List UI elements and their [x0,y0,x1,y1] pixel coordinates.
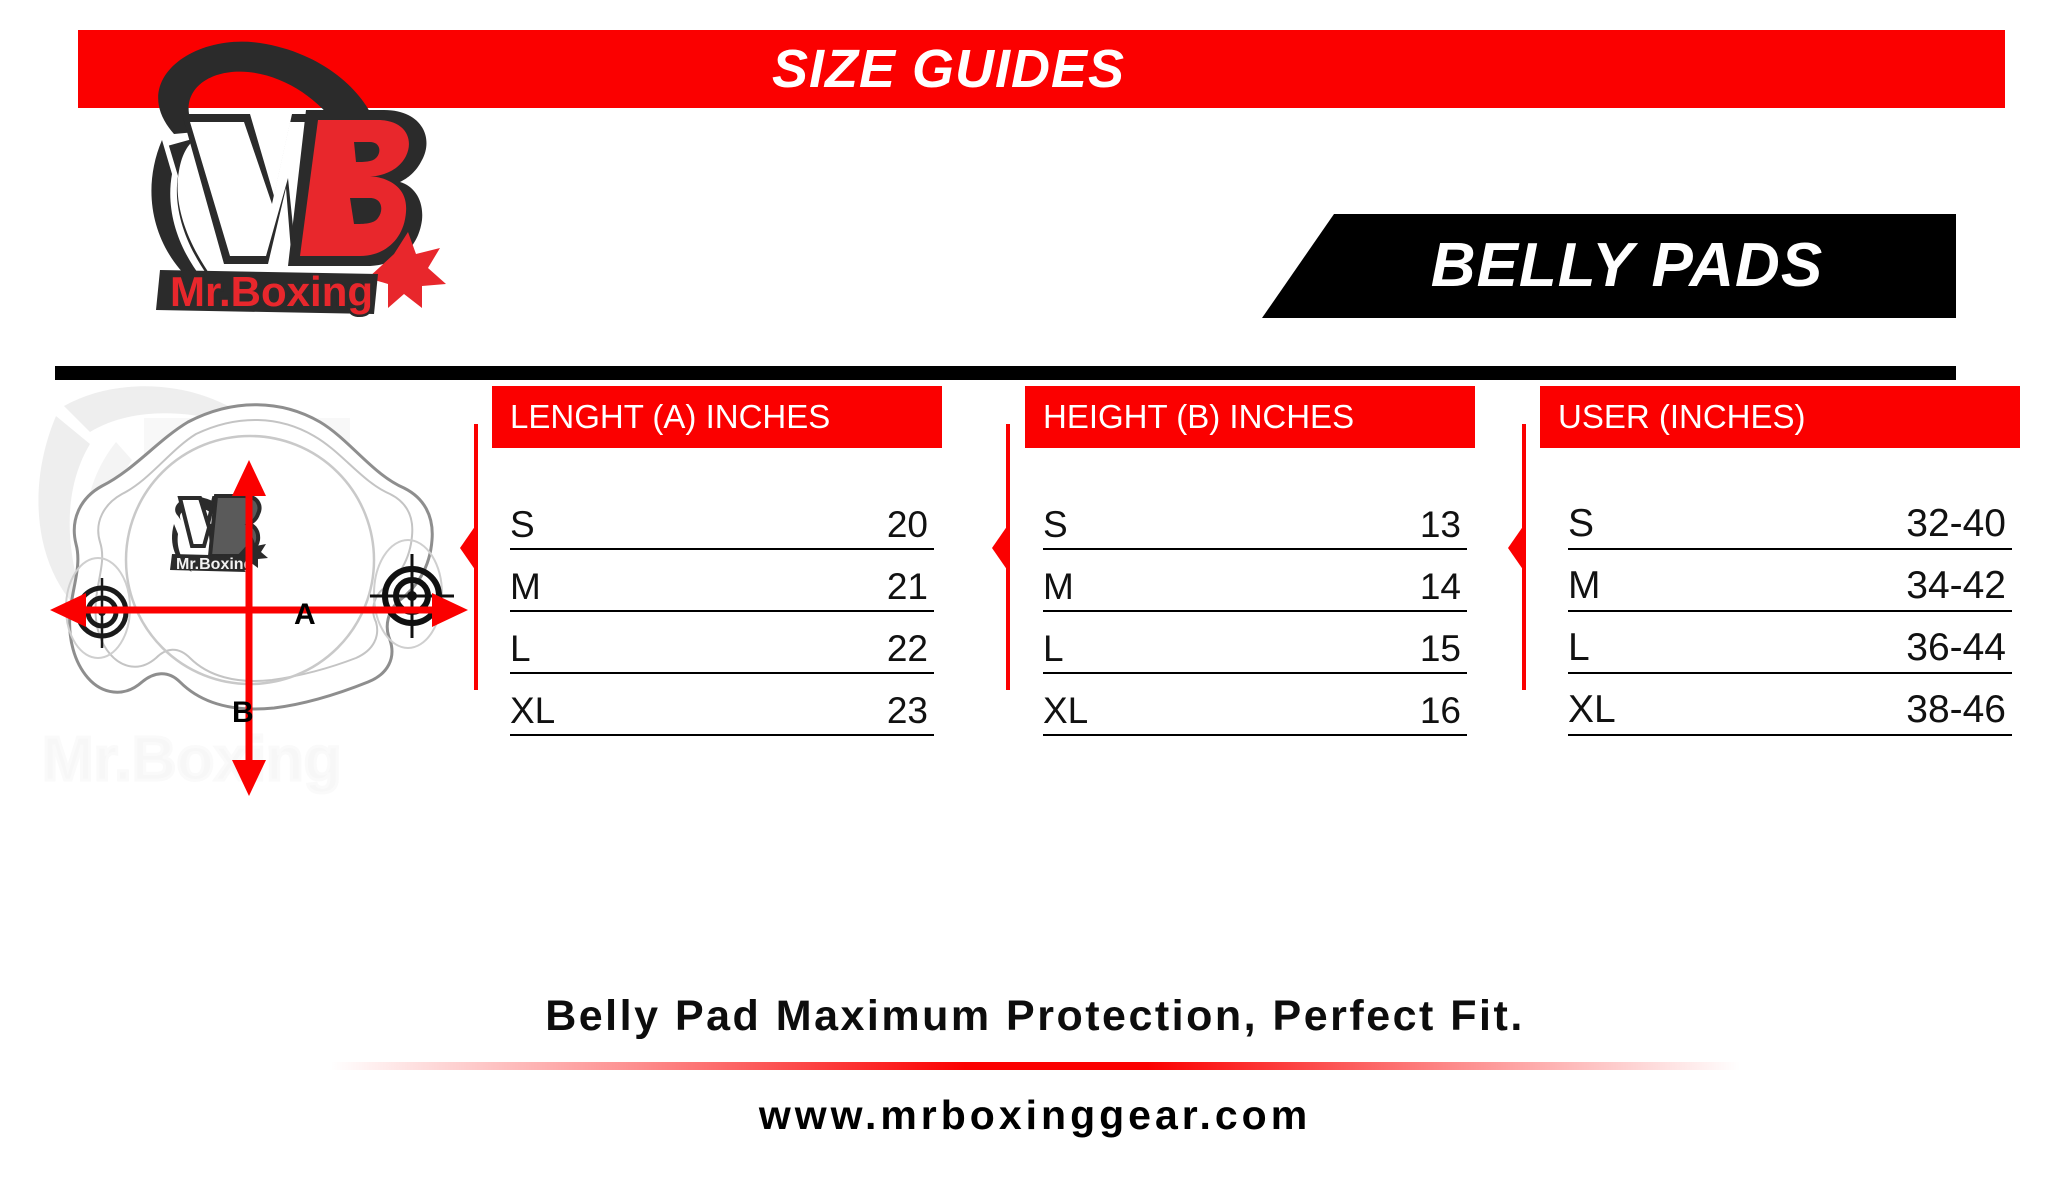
table-row: L 22 [510,612,934,674]
row-value: 15 [1420,628,1467,670]
column-rows-height: S 13 M 14 L 15 XL 16 [1025,488,1475,736]
row-size: S [1568,502,1594,546]
row-size: L [1568,626,1590,670]
row-size: M [510,566,541,608]
table-row: L 15 [1043,612,1467,674]
row-size: S [1043,504,1068,546]
row-value: 32-40 [1906,502,2012,546]
belly-pad-diagram: Mr.Boxing [20,382,520,832]
product-banner: BELLY PADS [1262,214,1956,318]
section-divider [55,366,1956,380]
table-row: M 14 [1043,550,1467,612]
column-rule-arrow-icon [992,522,1010,574]
size-table-user: USER (INCHES) S 32-40 M 34-42 L 36-44 XL… [1540,386,2020,736]
row-value: 36-44 [1906,626,2012,670]
table-row: L 36-44 [1568,612,2012,674]
row-value: 38-46 [1906,688,2012,732]
svg-text:Mr.Boxing: Mr.Boxing [176,556,253,573]
row-size: XL [1043,690,1088,732]
row-value: 21 [887,566,934,608]
row-value: 13 [1420,504,1467,546]
row-value: 22 [887,628,934,670]
size-guide-page: SIZE GUIDES [0,0,2070,1195]
column-rule-user [1508,424,1538,690]
row-size: S [510,504,535,546]
table-row: XL 16 [1043,674,1467,736]
size-table-length: LENGHT (A) INCHES S 20 M 21 L 22 XL 23 [492,386,942,736]
table-row: XL 38-46 [1568,674,2012,736]
row-size: M [1043,566,1074,608]
svg-text:Mr.Boxing: Mr.Boxing [42,725,342,794]
footer-divider [330,1062,1740,1070]
row-value: 14 [1420,566,1467,608]
row-value: 34-42 [1906,564,2012,608]
column-rule-height [992,424,1022,690]
table-row: XL 23 [510,674,934,736]
table-row: M 21 [510,550,934,612]
column-rule-arrow-icon [460,522,478,574]
row-value: 23 [887,690,934,732]
column-rows-user: S 32-40 M 34-42 L 36-44 XL 38-46 [1540,488,2020,736]
column-rule-arrow-icon [1508,522,1526,574]
table-row: S 13 [1043,488,1467,550]
size-table-height: HEIGHT (B) INCHES S 13 M 14 L 15 XL 16 [1025,386,1475,736]
svg-text:Mr.Boxing: Mr.Boxing [170,268,373,315]
row-size: L [510,628,531,670]
column-header-length: LENGHT (A) INCHES [492,386,942,448]
table-row: S 20 [510,488,934,550]
table-row: S 32-40 [1568,488,2012,550]
column-rule-length [460,424,490,690]
column-header-height: HEIGHT (B) INCHES [1025,386,1475,448]
dimension-label-a: A [294,598,316,631]
brand-logo: Mr.Boxing [78,28,478,348]
row-size: M [1568,564,1601,608]
column-header-user: USER (INCHES) [1540,386,2020,448]
dimension-label-b: B [232,696,254,729]
row-value: 20 [887,504,934,546]
row-size: L [1043,628,1064,670]
table-row: M 34-42 [1568,550,2012,612]
row-size: XL [510,690,555,732]
footer-tagline: Belly Pad Maximum Protection, Perfect Fi… [0,992,2070,1041]
footer-website: www.mrboxinggear.com [0,1092,2070,1139]
column-rows-length: S 20 M 21 L 22 XL 23 [492,488,942,736]
product-banner-label: BELLY PADS [1280,214,1974,318]
row-value: 16 [1420,690,1467,732]
row-size: XL [1568,688,1616,732]
